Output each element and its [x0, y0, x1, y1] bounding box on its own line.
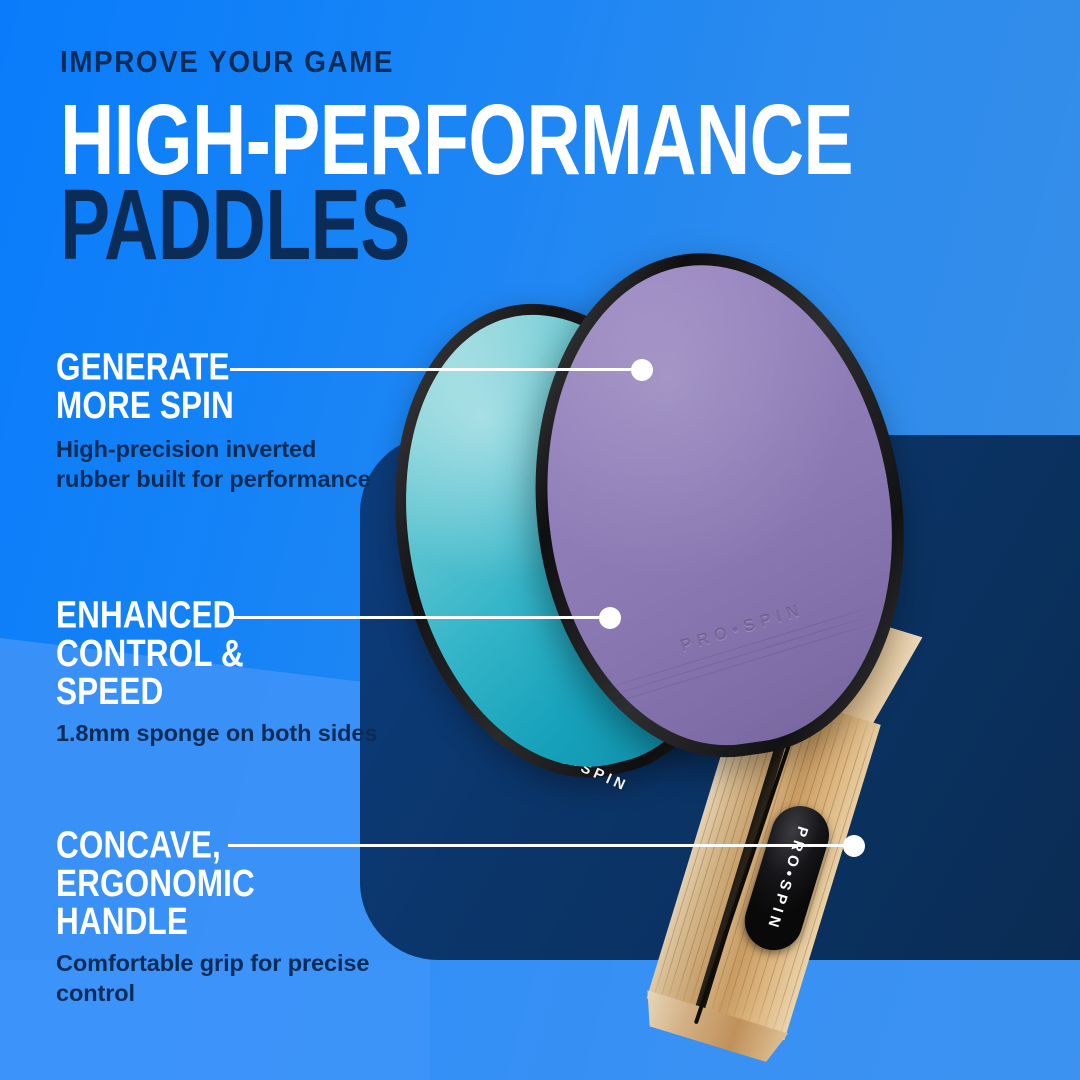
callout-heading-line: CONCAVE, — [56, 826, 353, 865]
headline-kicker: IMPROVE YOUR GAME — [60, 46, 834, 77]
callout-heading: ENHANCED CONTROL & SPEED — [56, 596, 353, 712]
callout-heading-line: MORE SPIN — [56, 387, 353, 426]
callout-concave-ergonomic-handle: CONCAVE, ERGONOMIC HANDLE Comfortable gr… — [56, 826, 386, 1008]
headline-secondary: PADDLES — [60, 179, 795, 269]
callout-body: Comfortable grip for precise control — [56, 949, 386, 1008]
callout-heading-line: SPEED — [56, 673, 353, 712]
callout-heading-line: GENERATE — [56, 348, 353, 387]
callout-heading: GENERATE MORE SPIN — [56, 348, 353, 425]
callout-heading: CONCAVE, ERGONOMIC HANDLE — [56, 826, 353, 942]
callout-heading-line: HANDLE — [56, 903, 353, 942]
callout-generate-more-spin: GENERATE MORE SPIN High-precision invert… — [56, 348, 386, 495]
callout-heading-line: CONTROL & — [56, 635, 353, 674]
callout-heading-line: ERGONOMIC — [56, 865, 353, 904]
callout-body: High-precision inverted rubber built for… — [56, 435, 386, 494]
callout-heading-line: ENHANCED — [56, 596, 353, 635]
headline-block: IMPROVE YOUR GAME HIGH-PERFORMANCE PADDL… — [60, 46, 920, 258]
handle-badge-label: PRO•SPIN — [763, 824, 811, 933]
infographic-canvas: PRO•SPIN PRO•SPIN PRO•SPIN PRO•SPIN PRO•… — [0, 0, 1080, 1080]
callout-enhanced-control-speed: ENHANCED CONTROL & SPEED 1.8mm sponge on… — [56, 596, 386, 749]
paddle-blade-purple: PRO•SPIN PRO•SPIN PRO•SPIN — [503, 229, 935, 780]
callout-body: 1.8mm sponge on both sides — [56, 719, 386, 749]
